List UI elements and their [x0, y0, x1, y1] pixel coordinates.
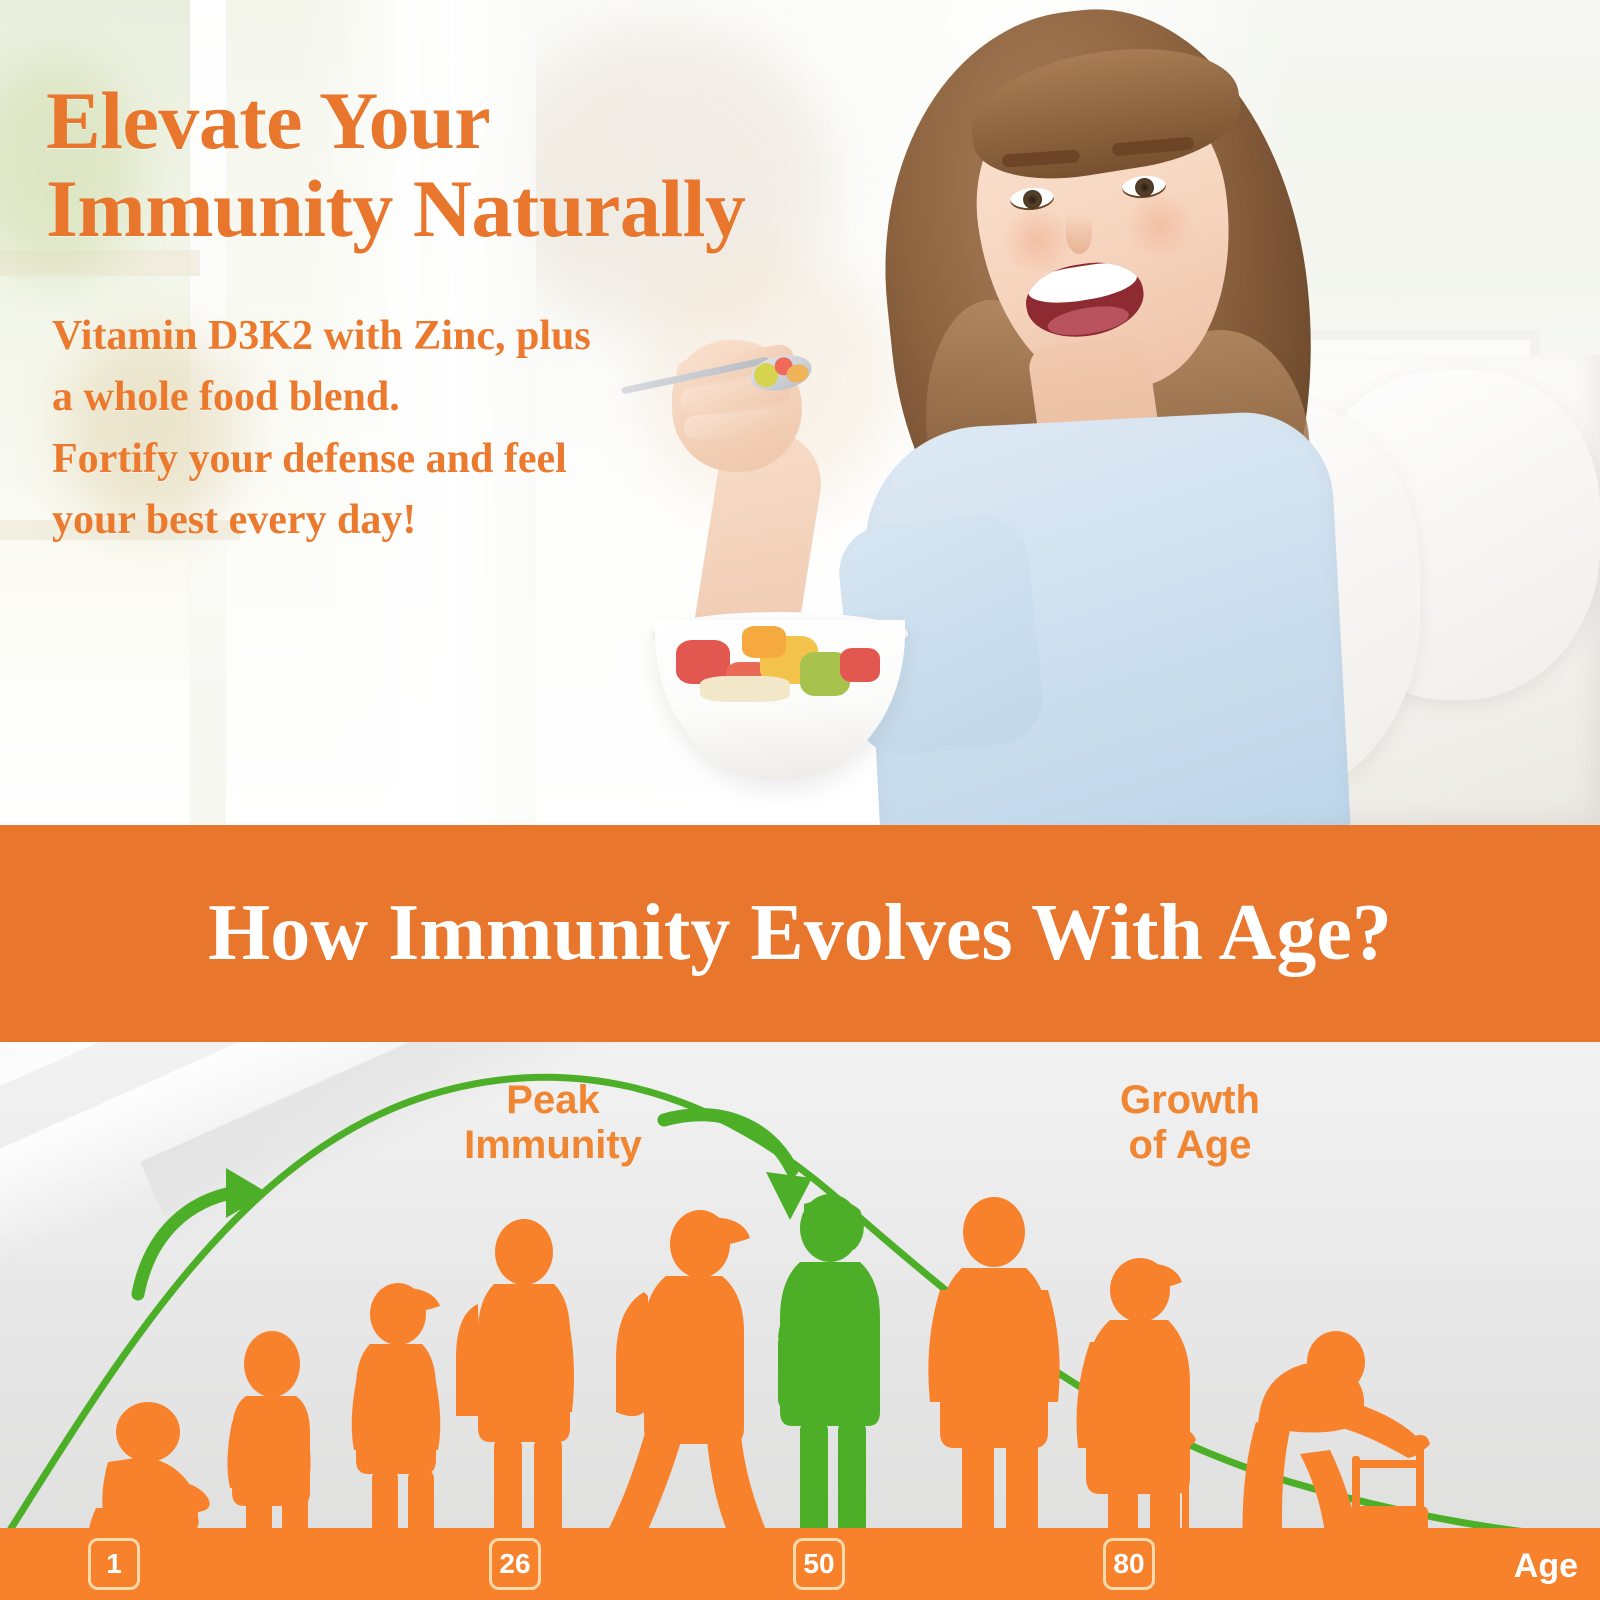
- figure-child-with-cap: [352, 1283, 441, 1568]
- age-tick-1-value: 1: [106, 1548, 122, 1580]
- growth-of-age-line-2: of Age: [1050, 1123, 1330, 1168]
- age-tick-50-value: 50: [803, 1548, 834, 1580]
- fruit-orange: [742, 626, 786, 658]
- age-tick-50: 50: [793, 1538, 845, 1590]
- subcopy-line-3: Fortify your defense and feel: [52, 429, 792, 490]
- page-title: Elevate Your Immunity Naturally: [46, 77, 876, 254]
- subcopy-line-2: a whole food blend.: [52, 367, 792, 428]
- peak-immunity-line-2: Immunity: [418, 1123, 688, 1168]
- woman-photo: [830, 0, 1390, 825]
- headline-line-1: Elevate Your: [46, 77, 876, 166]
- subcopy-line-1: Vitamin D3K2 with Zinc, plus: [52, 306, 792, 367]
- banner-title: How Immunity Evolves With Age?: [0, 888, 1600, 979]
- hero-subcopy: Vitamin D3K2 with Zinc, plus a whole foo…: [52, 306, 792, 551]
- immunity-age-chart: Peak Immunity Growth of Age 1 26 50 80 A…: [0, 1042, 1600, 1600]
- cheek-right: [1120, 196, 1200, 256]
- hero-section: Elevate Your Immunity Naturally Vitamin …: [0, 0, 1600, 825]
- subcopy-line-4: your best every day!: [52, 490, 792, 551]
- infographic-page: Elevate Your Immunity Naturally Vitamin …: [0, 0, 1600, 1600]
- age-tick-26-value: 26: [499, 1548, 530, 1580]
- age-tick-80-value: 80: [1113, 1548, 1144, 1580]
- rising-arrow-icon: [138, 1168, 268, 1294]
- headline-line-2: Immunity Naturally: [46, 165, 876, 254]
- nose: [1066, 214, 1092, 254]
- figure-woman-with-shoulder-bag: [778, 1194, 880, 1572]
- peak-immunity-line-1: Peak: [418, 1078, 688, 1123]
- fruit-strawberry-3: [840, 648, 880, 682]
- age-tick-26: 26: [489, 1538, 541, 1590]
- figure-teen-with-backpack: [456, 1219, 574, 1568]
- age-tick-80: 80: [1103, 1538, 1155, 1590]
- iris-left: [1022, 189, 1043, 210]
- figure-young-adult-walking: [591, 1210, 766, 1562]
- fruit-cream: [700, 676, 790, 702]
- peak-immunity-label: Peak Immunity: [418, 1078, 688, 1168]
- section-banner: How Immunity Evolves With Age?: [0, 825, 1600, 1042]
- growth-of-age-label: Growth of Age: [1050, 1078, 1330, 1168]
- figure-adult-man-standing: [928, 1197, 1059, 1566]
- iris-right: [1134, 177, 1155, 198]
- age-axis-label: Age: [1514, 1547, 1578, 1586]
- growth-of-age-line-1: Growth: [1050, 1078, 1330, 1123]
- age-tick-1: 1: [88, 1538, 140, 1590]
- chart-graphics: [0, 1042, 1600, 1600]
